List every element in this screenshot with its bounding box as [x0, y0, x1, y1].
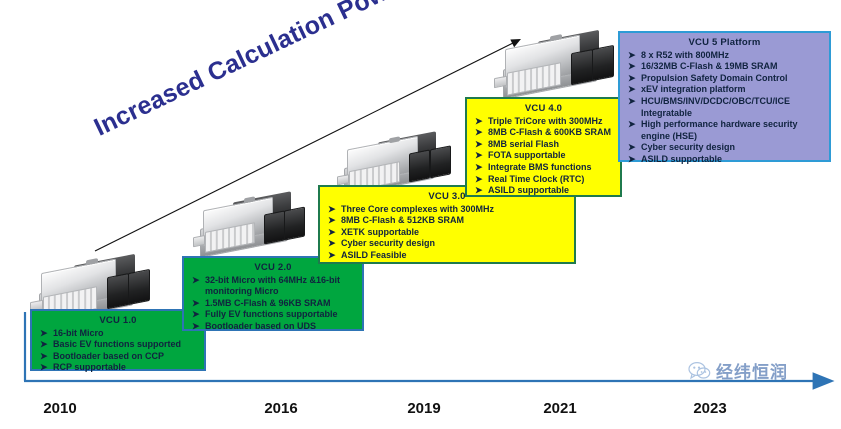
- bullet-icon: ➤: [475, 185, 483, 197]
- axis-year-2010: 2010: [43, 400, 76, 417]
- list-item: ➤8MB C-Flash & 600KB SRAM: [473, 127, 614, 139]
- list-item: ➤FOTA supportable: [473, 150, 614, 162]
- list-item: ➤1.5MB C-Flash & 96KB SRAM: [190, 298, 356, 310]
- list-item: ➤xEV integration platform: [626, 84, 823, 96]
- bullet-icon: ➤: [192, 275, 200, 287]
- bullet-icon: ➤: [192, 298, 200, 310]
- bullet-icon: ➤: [628, 96, 636, 108]
- list-item: ➤Triple TriCore with 300MHz: [473, 116, 614, 128]
- bullet-icon: ➤: [40, 339, 48, 351]
- bullet-icon: ➤: [475, 162, 483, 174]
- ecu-image-vcu2: [196, 196, 306, 254]
- list-item: ➤Basic EV functions supported: [38, 339, 198, 351]
- list-item: ➤Integrate BMS functions: [473, 162, 614, 174]
- list-item: ➤32-bit Micro with 64MHz &16-bit monitor…: [190, 275, 356, 298]
- bullet-icon: ➤: [40, 362, 48, 374]
- box-title-vcu-1-0: VCU 1.0: [38, 315, 198, 327]
- axis-year-2023: 2023: [693, 400, 726, 417]
- list-item: ➤High performance hardware security engi…: [626, 119, 823, 142]
- bullet-icon: ➤: [628, 142, 636, 154]
- list-item: ➤ASILD Feasible: [326, 250, 568, 262]
- bullet-icon: ➤: [328, 250, 336, 262]
- bullet-icon: ➤: [628, 50, 636, 62]
- feature-list-vcu-2-0: ➤32-bit Micro with 64MHz &16-bit monitor…: [190, 275, 356, 333]
- ecu-image-vcu4: [498, 34, 616, 96]
- ecu-image-vcu3: [340, 136, 452, 192]
- bullet-icon: ➤: [40, 351, 48, 363]
- list-item: ➤Bootloader based on CCP: [38, 351, 198, 363]
- list-item: ➤Fully EV functions supportable: [190, 309, 356, 321]
- bullet-icon: ➤: [628, 84, 636, 96]
- list-item: ➤ASILD supportable: [626, 154, 823, 166]
- list-item: ➤8MB serial Flash: [473, 139, 614, 151]
- feature-list-vcu-4-0: ➤Triple TriCore with 300MHz ➤8MB C-Flash…: [473, 116, 614, 197]
- list-item: ➤8 x R52 with 800MHz: [626, 50, 823, 62]
- axis-year-2016: 2016: [264, 400, 297, 417]
- box-title-vcu-4-0: VCU 4.0: [473, 103, 614, 115]
- list-item: ➤Cyber security design: [326, 238, 568, 250]
- wechat-icon: [688, 361, 712, 381]
- list-item: ➤XETK supportable: [326, 227, 568, 239]
- info-box-vcu-5-platform[interactable]: VCU 5 Platform ➤8 x R52 with 800MHz ➤16/…: [618, 31, 831, 162]
- list-item: ➤Three Core complexes with 300MHz: [326, 204, 568, 216]
- list-item: ➤Propulsion Safety Domain Control: [626, 73, 823, 85]
- bullet-icon: ➤: [475, 150, 483, 162]
- bullet-icon: ➤: [628, 61, 636, 73]
- list-item: ➤ASILD supportable: [473, 185, 614, 197]
- feature-list-vcu-1-0: ➤16-bit Micro ➤Basic EV functions suppor…: [38, 328, 198, 374]
- axis-year-2021: 2021: [543, 400, 576, 417]
- bullet-icon: ➤: [475, 174, 483, 186]
- watermark-text: 经纬恒润: [716, 358, 788, 383]
- info-box-vcu-4-0[interactable]: VCU 4.0 ➤Triple TriCore with 300MHz ➤8MB…: [465, 97, 622, 197]
- timeline-diagram: Increased Calculation Power: [0, 0, 841, 429]
- bullet-icon: ➤: [628, 154, 636, 166]
- bullet-icon: ➤: [628, 73, 636, 85]
- bullet-icon: ➤: [628, 119, 636, 131]
- list-item: ➤8MB C-Flash & 512KB SRAM: [326, 215, 568, 227]
- info-box-vcu-2-0[interactable]: VCU 2.0 ➤32-bit Micro with 64MHz &16-bit…: [182, 256, 364, 331]
- list-item: ➤Real Time Clock (RTC): [473, 174, 614, 186]
- feature-list-vcu-3-0: ➤Three Core complexes with 300MHz ➤8MB C…: [326, 204, 568, 262]
- bullet-icon: ➤: [328, 204, 336, 216]
- list-item: ➤Bootloader based on UDS: [190, 321, 356, 333]
- list-item: ➤HCU/BMS/INV/DCDC/OBC/TCU/ICE Integratab…: [626, 96, 823, 119]
- bullet-icon: ➤: [40, 328, 48, 340]
- axis-year-2019: 2019: [407, 400, 440, 417]
- list-item: ➤RCP supportable: [38, 362, 198, 374]
- diagram-title: Increased Calculation Power: [90, 0, 415, 143]
- bullet-icon: ➤: [192, 321, 200, 333]
- box-title-vcu-5-platform: VCU 5 Platform: [626, 37, 823, 49]
- bullet-icon: ➤: [328, 227, 336, 239]
- list-item: ➤16/32MB C-Flash & 19MB SRAM: [626, 61, 823, 73]
- list-item: ➤Cyber security design: [626, 142, 823, 154]
- bullet-icon: ➤: [475, 127, 483, 139]
- list-item: ➤16-bit Micro: [38, 328, 198, 340]
- bullet-icon: ➤: [475, 139, 483, 151]
- feature-list-vcu-5-platform: ➤8 x R52 with 800MHz ➤16/32MB C-Flash & …: [626, 50, 823, 166]
- bullet-icon: ➤: [328, 215, 336, 227]
- info-box-vcu-1-0[interactable]: VCU 1.0 ➤16-bit Micro ➤Basic EV function…: [30, 309, 206, 371]
- bullet-icon: ➤: [328, 238, 336, 250]
- bullet-icon: ➤: [192, 309, 200, 321]
- watermark: 经纬恒润: [688, 358, 788, 383]
- bullet-icon: ➤: [475, 116, 483, 128]
